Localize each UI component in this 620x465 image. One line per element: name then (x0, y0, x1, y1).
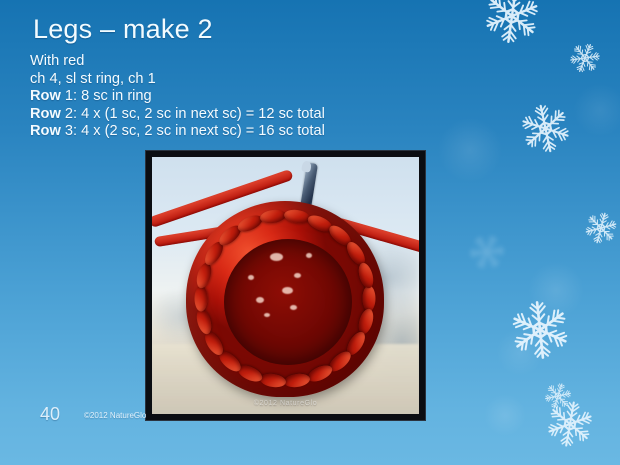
yarn-highlight (294, 273, 301, 278)
crochet-stitch (283, 372, 311, 389)
instruction-line: ch 4, sl st ring, ch 1 (30, 71, 460, 89)
crochet-ball-photo: ©2012 NatureGlo (152, 157, 419, 414)
instruction-line-label: Row (30, 88, 61, 104)
crochet-stitch (305, 363, 334, 386)
crochet-stitch (283, 208, 311, 225)
yarn-highlight (290, 305, 297, 310)
page-number: 40 (40, 404, 60, 425)
red-crochet-ball (186, 201, 384, 397)
crochet-stitch (194, 261, 214, 290)
snowflake-medium-right-icon (512, 95, 577, 160)
instruction-line: Row 1: 8 sc in ring (30, 88, 460, 106)
yarn-highlight (256, 297, 264, 303)
snowflake-bottom-right-corner-icon (540, 394, 600, 454)
yarn-highlight (306, 253, 312, 258)
instruction-line-text: With red (30, 53, 84, 69)
instruction-line: With red (30, 53, 460, 71)
instruction-line-text: 1: 8 sc in ring (61, 88, 152, 104)
crochet-stitch (356, 261, 376, 290)
instruction-line: Row 3: 4 x (2 sc, 2 sc in next sc) = 16 … (30, 123, 460, 141)
yarn-highlight (264, 313, 270, 317)
instruction-line-text: 3: 4 x (2 sc, 2 sc in next sc) = 16 sc t… (61, 123, 325, 139)
instruction-line: Row 2: 4 x (1 sc, 2 sc in next sc) = 12 … (30, 106, 460, 124)
photo-frame: ©2012 NatureGlo (145, 150, 426, 421)
crochet-stitch (363, 286, 376, 312)
crochet-stitch (259, 372, 287, 389)
copyright-notice: ©2012 NatureGlo (84, 411, 146, 420)
yarn-highlight (282, 287, 293, 294)
crochet-stitch (195, 286, 208, 312)
crochet-ball-hollow (224, 239, 352, 365)
presentation-slide: Legs – make 2 With red ch 4, sl st ring,… (0, 0, 620, 465)
snowflake-large-lower-right-icon (504, 294, 577, 367)
slide-title: Legs – make 2 (33, 14, 213, 45)
instruction-line-text: 2: 4 x (1 sc, 2 sc in next sc) = 12 sc t… (61, 106, 325, 122)
instruction-line-text: ch 4, sl st ring, ch 1 (30, 71, 156, 87)
snowflake-small-right-edge-icon (579, 206, 620, 250)
yarn-highlight (270, 253, 283, 261)
crochet-stitch (259, 208, 287, 225)
snowflake-large-top-right-icon (477, 0, 547, 51)
snowflake-small-upper-right-icon (563, 36, 607, 80)
instruction-line-label: Row (30, 123, 61, 139)
snowflake-faint-mid-right-icon (460, 225, 513, 278)
instruction-text-block: With red ch 4, sl st ring, ch 1 Row 1: 8… (30, 53, 460, 141)
yarn-highlight (248, 275, 254, 280)
snowflake-small-bottom-icon (539, 377, 577, 415)
instruction-line-label: Row (30, 106, 61, 122)
